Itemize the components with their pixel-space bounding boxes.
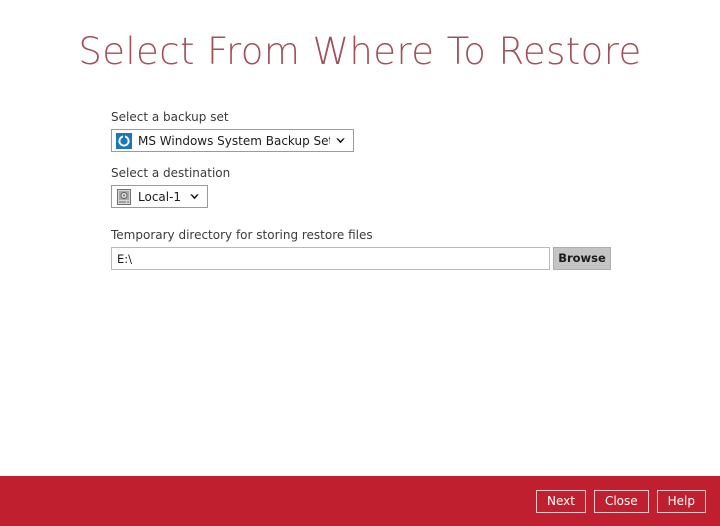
restore-form: Select a backup set MS Windows System Ba…	[111, 110, 631, 270]
spacer	[111, 208, 631, 228]
spacer	[111, 152, 631, 166]
destination-field: Select a destination Local-1	[111, 166, 631, 208]
destination-label: Select a destination	[111, 166, 631, 181]
backup-set-field: Select a backup set MS Windows System Ba…	[111, 110, 631, 152]
backup-set-icon	[116, 133, 132, 149]
temp-directory-input[interactable]	[111, 247, 550, 270]
page-title: Select From Where To Restore	[0, 27, 720, 77]
chevron-down-icon	[188, 190, 201, 203]
help-button[interactable]: Help	[657, 490, 706, 513]
restore-wizard-page: Select From Where To Restore Select a ba…	[0, 0, 720, 526]
backup-set-selected-value: MS Windows System Backup Set	[138, 134, 330, 148]
browse-button[interactable]: Browse	[553, 247, 611, 270]
backup-set-label: Select a backup set	[111, 110, 631, 125]
chevron-down-icon	[334, 134, 347, 147]
footer-button-group: Next Close Help	[536, 490, 706, 513]
temp-directory-label: Temporary directory for storing restore …	[111, 228, 631, 243]
destination-selected-value: Local-1	[138, 190, 184, 204]
footer-bar: Next Close Help	[0, 476, 720, 526]
temp-directory-field: Temporary directory for storing restore …	[111, 228, 631, 270]
close-button[interactable]: Close	[594, 490, 649, 513]
hard-drive-icon	[116, 189, 132, 205]
temp-directory-row: Browse	[111, 247, 631, 270]
destination-dropdown[interactable]: Local-1	[111, 185, 208, 208]
backup-set-dropdown[interactable]: MS Windows System Backup Set	[111, 129, 354, 152]
next-button[interactable]: Next	[536, 490, 586, 513]
